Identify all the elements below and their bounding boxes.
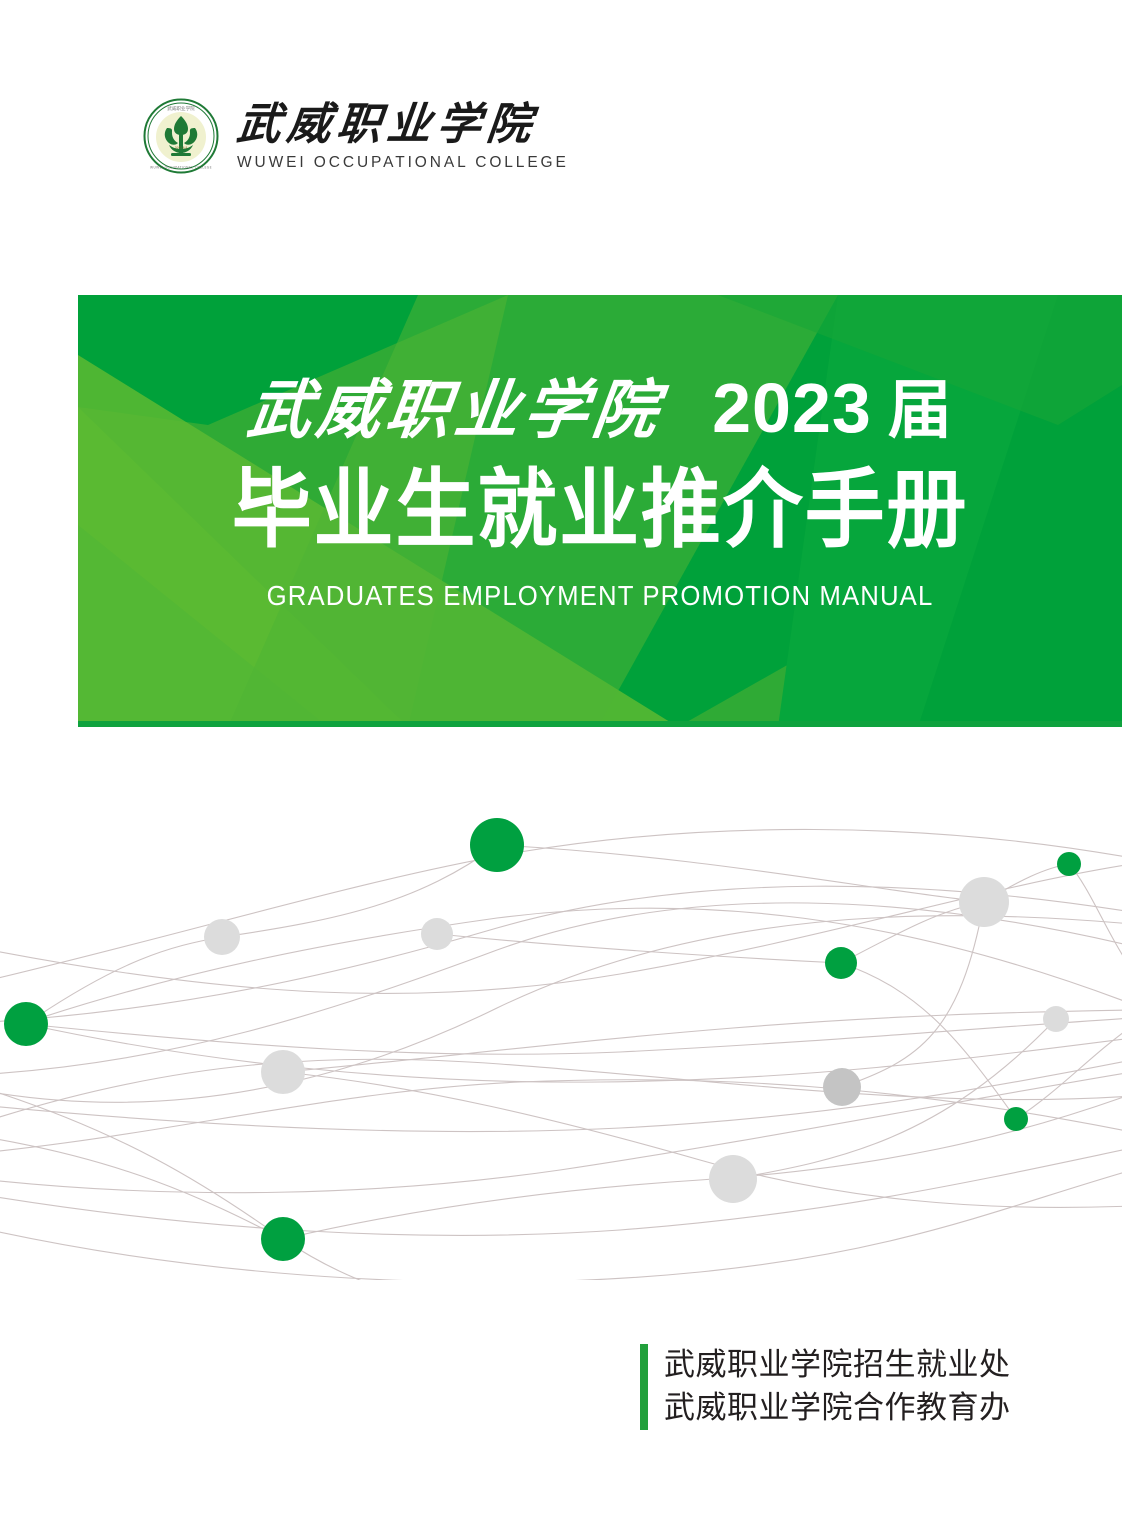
node-gray-small-right [1043,1006,1069,1032]
banner-title-year: 2023 [712,373,872,443]
footer-line-1: 武威职业学院招生就业处 [664,1344,1011,1387]
banner-title-main: 毕业生就业推介手册 [115,463,1086,557]
college-logo-block: 武威职业学院 WUWEI OCCUPATIONAL COLLEGE 2001.6… [143,98,569,174]
footer-department-block: 武威职业学院招生就业处 武威职业学院合作教育办 [640,1344,1011,1430]
banner-title-jie: 届 [888,376,952,446]
college-crest-icon: 武威职业学院 WUWEI OCCUPATIONAL COLLEGE 2001.6… [143,98,219,174]
banner-title-line-1: 武威职业学院 2023 届 [78,373,1122,446]
footer-line-2: 武威职业学院合作教育办 [664,1387,1011,1430]
node-green-small-far-right [1057,852,1081,876]
network-decoration-graphic [0,760,1122,1280]
svg-text:武威职业学院: 武威职业学院 [167,105,195,112]
node-gray-large-right [959,877,1009,927]
banner-bottom-strip [78,721,1122,727]
college-name-cn: 武威职业学院 [234,100,571,150]
node-gray-upper-mid [421,918,453,950]
banner-title-english: GRADUATES EMPLOYMENT PROMOTION MANUAL [120,580,1080,612]
college-name-en: WUWEI OCCUPATIONAL COLLEGE [237,154,569,172]
footer-text-lines: 武威职业学院招生就业处 武威职业学院合作教育办 [664,1344,1011,1430]
node-gray-dark-center [823,1068,861,1106]
node-green-lower-left [261,1217,305,1261]
banner-title-college-script: 武威职业学院 [244,376,667,446]
node-gray-upper-left [204,919,240,955]
node-green-small-lower-right [1004,1107,1028,1131]
footer-accent-bar [640,1344,648,1430]
cover-title-banner: 武威职业学院 2023 届 毕业生就业推介手册 GRADUATES EMPLOY… [78,295,1122,727]
node-green-left-edge [4,1002,48,1046]
network-links [0,829,1122,1280]
node-green-mid-right [825,947,857,979]
node-gray-lower-center [709,1155,757,1203]
node-gray-left-mid [261,1050,305,1094]
college-wordmark: 武威职业学院 WUWEI OCCUPATIONAL COLLEGE [237,100,569,172]
svg-text:2001.6.8: 2001.6.8 [175,146,188,150]
svg-text:WUWEI OCCUPATIONAL COLLEGE: WUWEI OCCUPATIONAL COLLEGE [150,166,212,170]
node-green-large-upper [470,818,524,872]
